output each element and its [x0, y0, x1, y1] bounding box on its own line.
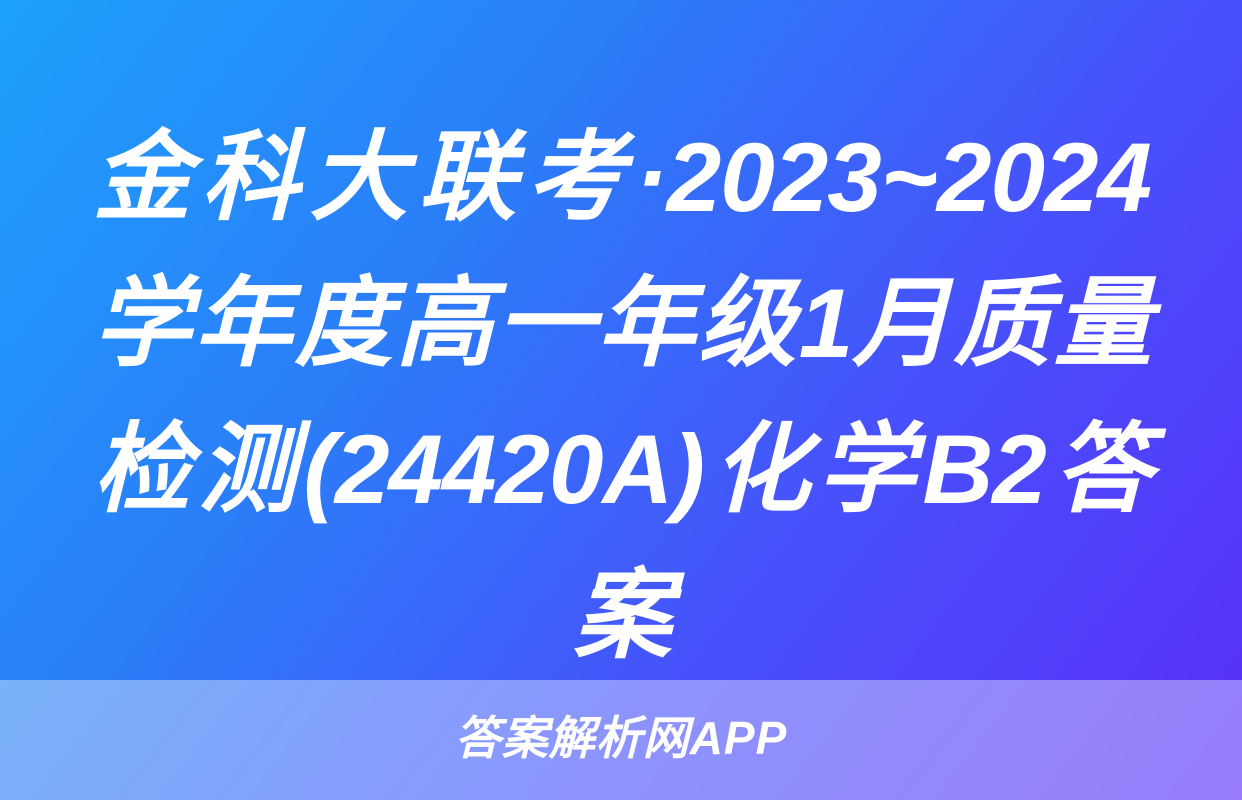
footer-brand-label: 答案解析网APP: [455, 715, 788, 761]
title-line-3-chunk-4: 化: [712, 396, 809, 542]
title-line-2-chunk-6: 年: [597, 250, 694, 396]
title-line-3-chunk-2: 测: [198, 396, 295, 542]
title-line-3-chunk-5: 学: [817, 396, 914, 542]
title-line-3: 检 测 (24420A) 化 学 B2 答: [93, 396, 1151, 542]
title-line-2-chunk-10: 量: [1054, 250, 1151, 396]
title-line-3-chunk-1: 检: [93, 396, 190, 542]
title-line-1-chunk-4: 联: [418, 104, 515, 250]
title-line-2-chunk-9: 质: [953, 250, 1050, 396]
title-line-1-chunk-2: 科: [201, 104, 298, 250]
title-line-2: 学 年 度 高 一 年 级 1月 质 量: [93, 250, 1151, 396]
title-line-4: 案: [93, 542, 1151, 688]
title-line-2-chunk-2: 年: [194, 250, 291, 396]
title-line-2-chunk-8: 1月: [799, 250, 950, 396]
title-line-1-chunk-6: ·2023~2024: [635, 104, 1151, 250]
title-line-3-chunk-6: B2: [922, 396, 1045, 542]
answer-poster-card: 金 科 大 联 考 ·2023~2024 学 年 度 高 一 年 级 1月 质 …: [0, 0, 1242, 800]
poster-title: 金 科 大 联 考 ·2023~2024 学 年 度 高 一 年 级 1月 质 …: [93, 104, 1151, 688]
title-line-2-chunk-4: 高: [395, 250, 492, 396]
title-line-1-chunk-3: 大: [310, 104, 407, 250]
title-line-3-chunk-7: 答: [1054, 396, 1151, 542]
title-line-2-chunk-5: 一: [496, 250, 593, 396]
title-line-2-chunk-7: 级: [698, 250, 795, 396]
title-line-3-chunk-3: (24420A): [303, 396, 704, 542]
title-line-1-chunk-1: 金: [93, 104, 190, 250]
title-line-2-chunk-1: 学: [93, 250, 190, 396]
title-line-1-chunk-5: 考: [527, 104, 624, 250]
title-line-2-chunk-3: 度: [295, 250, 392, 396]
title-line-1: 金 科 大 联 考 ·2023~2024: [93, 104, 1151, 250]
footer-brand-band: 答案解析网APP: [0, 680, 1242, 800]
